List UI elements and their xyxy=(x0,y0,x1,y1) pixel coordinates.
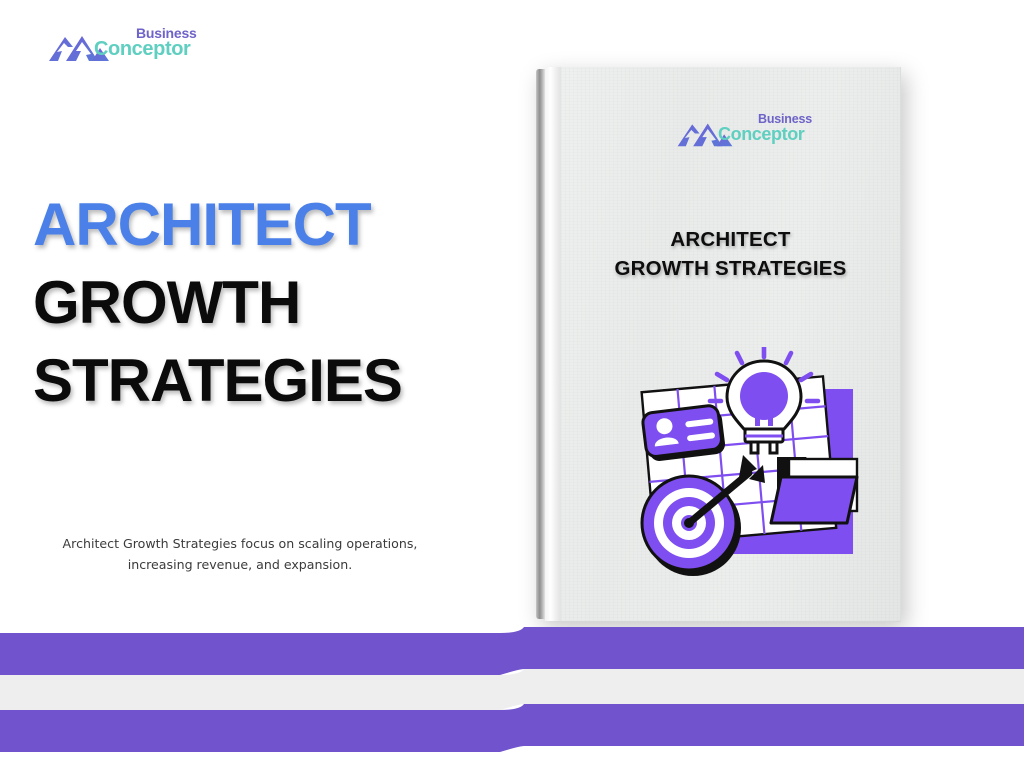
page-title: ARCHITECT GROWTH STRATEGIES xyxy=(33,186,503,420)
book-cover-title-line-1: ARCHITECT xyxy=(561,225,900,254)
book-cover-face: Business Conceptor ARCHITECT GROWTH STRA… xyxy=(561,67,901,622)
headline-line-3: STRATEGIES xyxy=(33,342,503,420)
book-spine-fold xyxy=(545,67,561,621)
bottom-wave-ribbons xyxy=(0,608,1024,768)
description-text: Architect Growth Strategies focus on sca… xyxy=(33,533,447,575)
book-brand-logo: Business Conceptor xyxy=(676,110,826,152)
book-cover-title: ARCHITECT GROWTH STRATEGIES xyxy=(561,225,900,283)
id-card-icon xyxy=(642,404,726,462)
book-mockup: Business Conceptor ARCHITECT GROWTH STRA… xyxy=(536,67,900,621)
book-spine-edge xyxy=(536,69,545,619)
book-brand-name-bottom: Conceptor xyxy=(718,125,804,143)
brand-wordmark: Business Conceptor xyxy=(94,26,214,66)
book-cover-title-line-2: GROWTH STRATEGIES xyxy=(561,254,900,283)
headline-line-1: ARCHITECT xyxy=(33,186,503,264)
folder-icon xyxy=(771,457,857,523)
ribbon-band-gap xyxy=(0,669,1024,710)
business-growth-illustration xyxy=(631,347,896,597)
headline-line-2: GROWTH xyxy=(33,264,503,342)
book-brand-wordmark: Business Conceptor xyxy=(718,113,833,149)
brand-logo[interactable]: Business Conceptor xyxy=(48,22,208,68)
ribbon-band-bottom xyxy=(0,704,1024,752)
ribbon-band-top xyxy=(0,627,1024,675)
brand-name-bottom: Conceptor xyxy=(94,39,190,59)
